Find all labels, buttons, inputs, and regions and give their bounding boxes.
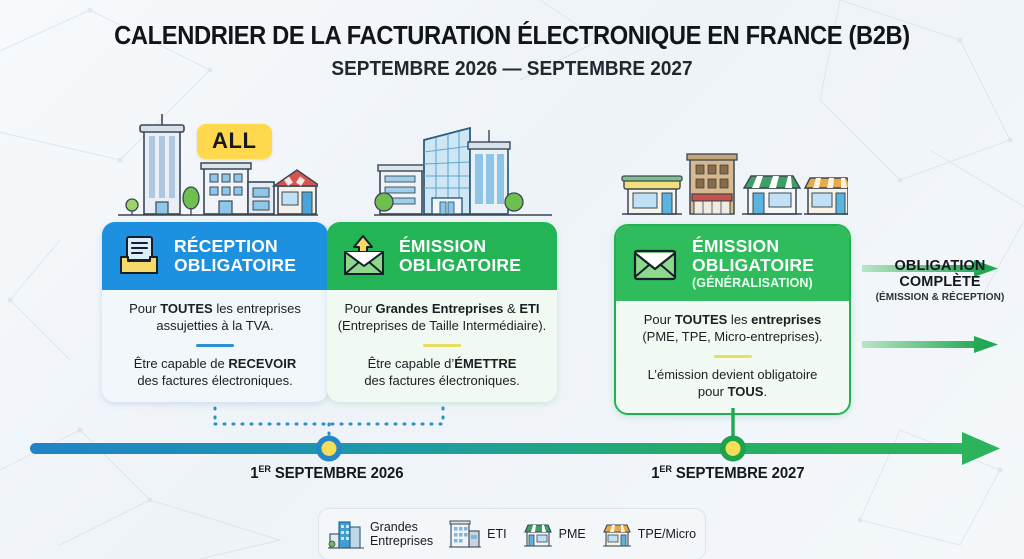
obligation-line1: OBLIGATION <box>860 258 1020 274</box>
legend-label-grandes-entreprises: Grandes Entreprises <box>370 520 433 548</box>
page-title: CALENDRIER DE LA FACTURATION ÉLECTRONIQU… <box>36 22 988 51</box>
infographic-canvas: CALENDRIER DE LA FACTURATION ÉLECTRONIQU… <box>0 0 1024 559</box>
legend-l1b: Entreprises <box>370 534 433 548</box>
obligation-complete-block: OBLIGATION COMPLÈTE (ÉMISSION & RÉCEPTIO… <box>860 258 1020 303</box>
legend-item-tpe-micro[interactable]: TPE/Micro <box>602 520 696 548</box>
skyscraper-cluster-icon <box>328 518 364 550</box>
obligation-arrow-bottom <box>862 334 1017 356</box>
legend-label-eti: ETI <box>487 527 506 541</box>
obligation-line3: (ÉMISSION & RÉCEPTION) <box>860 292 1020 303</box>
office-building-icon <box>449 519 481 549</box>
green-awning-shop-icon <box>523 520 553 548</box>
obligation-line2: COMPLÈTE <box>860 274 1020 290</box>
orange-awning-shop-icon <box>602 520 632 548</box>
timeline-arrow-head <box>962 432 1000 465</box>
legend-label-tpe-micro: TPE/Micro <box>638 527 696 541</box>
legend-l1a: Grandes <box>370 520 433 534</box>
page-subtitle: SEPTEMBRE 2026 — SEPTEMBRE 2027 <box>26 58 999 81</box>
timeline-dot-2027 <box>720 436 746 462</box>
legend-label-pme: PME <box>559 527 586 541</box>
legend-item-eti[interactable]: ETI <box>449 519 506 549</box>
title-block: CALENDRIER DE LA FACTURATION ÉLECTRONIQU… <box>0 22 1024 81</box>
legend-item-grandes-entreprises[interactable]: Grandes Entreprises <box>328 518 433 550</box>
timeline-dot-2026 <box>316 436 342 462</box>
legend: Grandes Entreprises ETI <box>318 508 706 559</box>
all-badge: ALL <box>197 124 272 159</box>
legend-item-pme[interactable]: PME <box>523 520 586 548</box>
timeline-axis <box>30 443 975 454</box>
